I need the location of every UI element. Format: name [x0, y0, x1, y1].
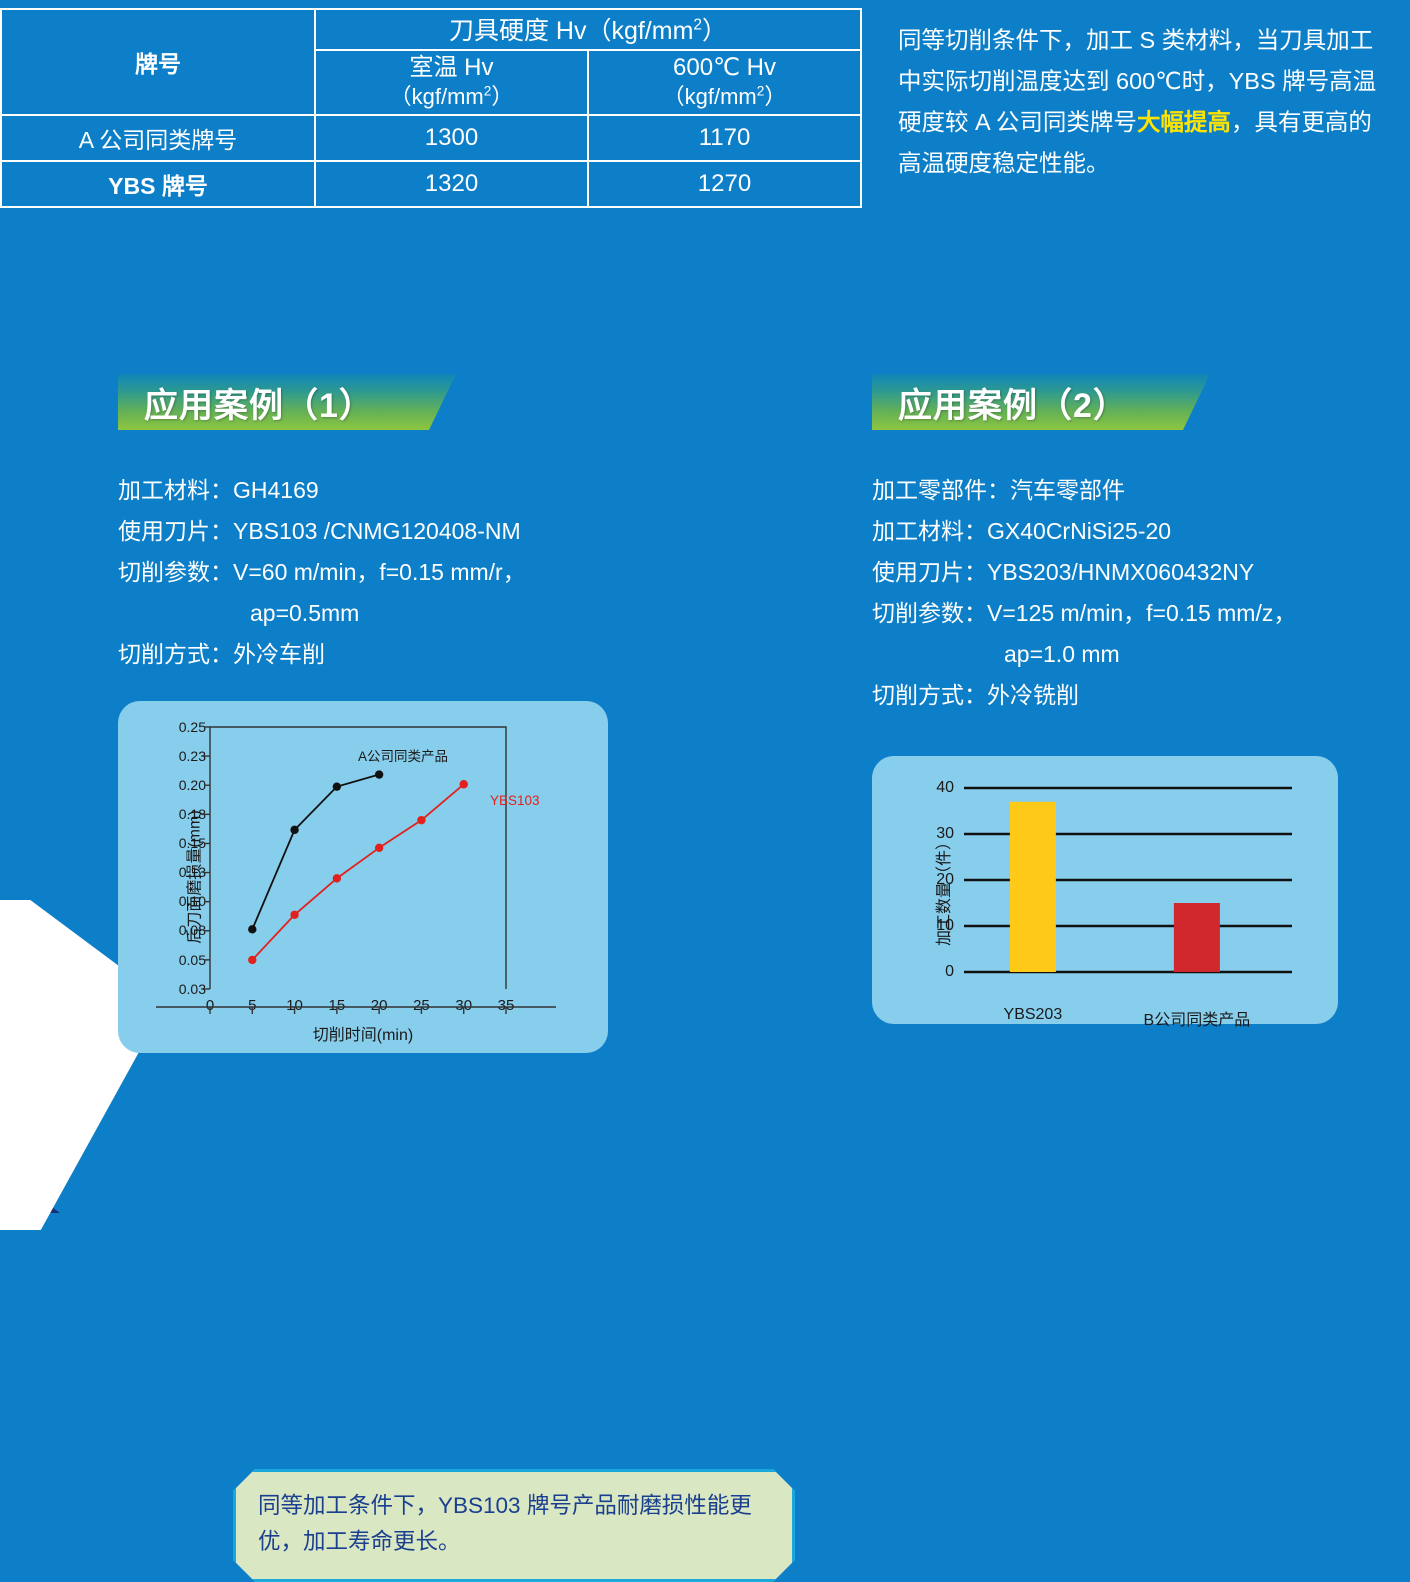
case-1-banner: 应用案例（1） — [118, 374, 456, 430]
intro-paragraph: 同等切削条件下，加工 S 类材料，当刀具加工中实际切削温度达到 600℃时，YB… — [898, 20, 1388, 184]
wear-line-chart: 后刀面磨损量(mm) 切削时间(min) 0.250.230.200.180.1… — [118, 701, 608, 1053]
poster-page: 牌号 刀具硬度 Hv（kgf/mm2） 室温 Hv （kgf/mm2） 600℃… — [0, 0, 1410, 1210]
bar-chart-ytick: 40 — [912, 779, 954, 797]
bar-chart-panel: 加工数量（件） 010203040 YBS203B公司同类产品 — [872, 756, 1338, 1024]
spec-line: 使用刀片：YBS103 /CNMG120408-NM — [118, 511, 738, 552]
row-brand-ybs: YBS 牌号 — [1, 161, 315, 207]
case-2-banner: 应用案例（2） — [872, 374, 1210, 430]
line-chart-annotation-a: A公司同类产品 — [358, 745, 448, 765]
spec-line: 切削参数：V=125 m/min，f=0.15 mm/z， — [872, 593, 1410, 634]
row-ybs-hot: 1270 — [588, 161, 861, 207]
case-2-spec-list: 加工零部件：汽车零部件 加工材料：GX40CrNiSi25-20 使用刀片：YB… — [872, 470, 1410, 716]
row-a-room: 1300 — [315, 115, 588, 161]
case-1-conclusion: 同等加工条件下，YBS103 牌号产品耐磨损性能更优，加工寿命更长。 — [233, 1469, 795, 1582]
header-600c: 600℃ Hv （kgf/mm2） — [588, 50, 861, 115]
application-case-2: 应用案例（2） 加工零部件：汽车零部件 加工材料：GX40CrNiSi25-20… — [872, 374, 1410, 1024]
bar-chart-ytick: 0 — [912, 963, 954, 981]
hardness-comparison-table: 牌号 刀具硬度 Hv（kgf/mm2） 室温 Hv （kgf/mm2） 600℃… — [0, 8, 862, 208]
spec-line: 加工材料：GX40CrNiSi25-20 — [872, 511, 1410, 552]
table-row: A 公司同类牌号 1300 1170 — [1, 115, 861, 161]
intro-highlight: 大幅提高 — [1137, 109, 1231, 135]
row-ybs-room: 1320 — [315, 161, 588, 207]
spec-line: 加工零部件：汽车零部件 — [872, 470, 1410, 511]
spec-line: ap=1.0 mm — [872, 634, 1410, 675]
spec-line: 切削方式：外冷铣削 — [872, 675, 1410, 716]
row-brand-a: A 公司同类牌号 — [1, 115, 315, 161]
bar-chart-category-label: B公司同类产品 — [1144, 1006, 1251, 1030]
header-brand-cell: 牌号 — [1, 9, 315, 115]
spec-line: 使用刀片：YBS203/HNMX060432NY — [872, 552, 1410, 593]
line-chart-annotation-ybs: YBS103 — [490, 793, 540, 808]
bar-chart-ytick: 20 — [912, 871, 954, 889]
line-chart-panel: 后刀面磨损量(mm) 切削时间(min) 0.250.230.200.180.1… — [118, 701, 608, 1053]
bar-chart-category-label: YBS203 — [1004, 1006, 1063, 1024]
bar-chart-ytick: 30 — [912, 825, 954, 843]
table-header-row-1: 牌号 刀具硬度 Hv（kgf/mm2） — [1, 9, 861, 50]
case-2-banner-label: 应用案例（2） — [898, 378, 1128, 427]
quantity-bar-chart: 加工数量（件） 010203040 YBS203B公司同类产品 — [872, 756, 1338, 1024]
header-room-temp: 室温 Hv （kgf/mm2） — [315, 50, 588, 115]
spec-line: ap=0.5mm — [118, 593, 738, 634]
spec-line: 加工材料：GH4169 — [118, 470, 738, 511]
application-case-1: 应用案例（1） 加工材料：GH4169 使用刀片：YBS103 /CNMG120… — [118, 374, 738, 1053]
case-1-spec-list: 加工材料：GH4169 使用刀片：YBS103 /CNMG120408-NM 切… — [118, 470, 738, 675]
spec-line: 切削方式：外冷车削 — [118, 634, 738, 675]
table-row: YBS 牌号 1320 1270 — [1, 161, 861, 207]
header-group-hardness: 刀具硬度 Hv（kgf/mm2） — [315, 9, 861, 50]
bar-chart-ytick: 10 — [912, 917, 954, 935]
case-1-banner-label: 应用案例（1） — [144, 378, 374, 427]
row-a-hot: 1170 — [588, 115, 861, 161]
spec-line: 切削参数：V=60 m/min，f=0.15 mm/r， — [118, 552, 738, 593]
